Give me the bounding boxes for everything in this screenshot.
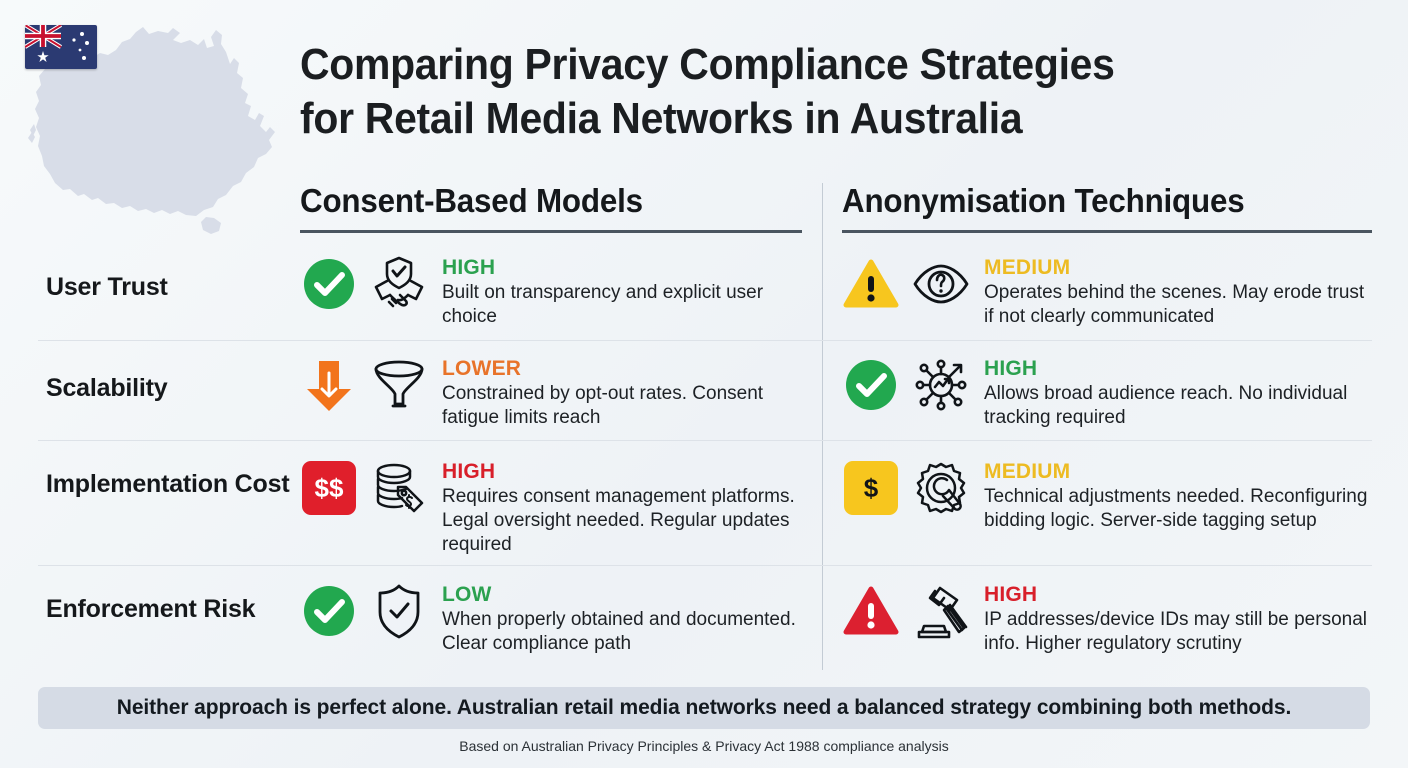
- rating-label: HIGH: [442, 256, 810, 279]
- row-label-scalability: Scalability: [46, 373, 294, 404]
- infographic-canvas: Comparing Privacy Compliance Strategies …: [0, 0, 1408, 768]
- eye-question-icon: [910, 255, 972, 313]
- green-check-circle-icon: [300, 255, 358, 313]
- summary-callout: Neither approach is perfect alone. Austr…: [38, 687, 1370, 729]
- page-title: Comparing Privacy Compliance Strategies …: [300, 38, 1230, 146]
- title-line-1: Comparing Privacy Compliance Strategies: [300, 38, 1230, 92]
- column-header-rule-right: [842, 230, 1372, 233]
- cell-enforcement-risk-consent: LOW When properly obtained and documente…: [300, 566, 810, 671]
- row-label-enforcement-risk: Enforcement Risk: [46, 594, 294, 625]
- gear-wrench-icon: [910, 459, 972, 517]
- shield-check-icon: [368, 582, 430, 640]
- cell-implementation-cost-anonymisation: $ MEDIUM Technical adjustments needed. R…: [842, 441, 1372, 566]
- row-label-implementation-cost: Implementation Cost: [46, 469, 294, 500]
- cell-text: LOW When properly obtained and documente…: [442, 582, 810, 656]
- row-label-user-trust: User Trust: [46, 272, 294, 303]
- cell-scalability-anonymisation: HIGH Allows broad audience reach. No ind…: [842, 341, 1372, 441]
- rating-description: Requires consent management platforms. L…: [442, 485, 810, 557]
- source-note: Based on Australian Privacy Principles &…: [0, 738, 1408, 754]
- rating-label: LOWER: [442, 357, 810, 380]
- green-check-circle-icon: [842, 356, 900, 414]
- yellow-single-dollar-chip-icon: $: [842, 459, 900, 517]
- rating-description: IP addresses/device IDs may still be per…: [984, 608, 1372, 656]
- table-row: Implementation Cost $$: [38, 440, 1372, 566]
- rating-description: When properly obtained and documented. C…: [442, 608, 810, 656]
- orange-down-arrow-icon: [300, 356, 358, 414]
- cell-text: HIGH IP addresses/device IDs may still b…: [984, 582, 1372, 656]
- column-header-rule-left: [300, 230, 802, 233]
- cell-user-trust-anonymisation: MEDIUM Operates behind the scenes. May e…: [842, 240, 1372, 340]
- rating-description: Allows broad audience reach. No individu…: [984, 382, 1372, 430]
- cell-enforcement-risk-anonymisation: HIGH IP addresses/device IDs may still b…: [842, 566, 1372, 671]
- cell-user-trust-consent: HIGH Built on transparency and explicit …: [300, 240, 810, 340]
- cell-text: HIGH Built on transparency and explicit …: [442, 255, 810, 329]
- rating-description: Built on transparency and explicit user …: [442, 281, 810, 329]
- red-double-dollar-chip-icon: $$: [300, 459, 358, 517]
- rating-label: LOW: [442, 583, 810, 606]
- rating-label: HIGH: [984, 357, 1372, 380]
- chip-label: $$: [302, 461, 356, 515]
- cell-text: MEDIUM Operates behind the scenes. May e…: [984, 255, 1372, 329]
- rating-label: MEDIUM: [984, 460, 1372, 483]
- red-warning-triangle-icon: [842, 582, 900, 640]
- rating-description: Constrained by opt-out rates. Consent fa…: [442, 382, 810, 430]
- cell-text: HIGH Allows broad audience reach. No ind…: [984, 356, 1372, 430]
- column-header-consent: Consent-Based Models: [300, 182, 643, 220]
- rating-label: MEDIUM: [984, 256, 1372, 279]
- chip-label: $: [844, 461, 898, 515]
- comparison-table: Consent-Based Models Anonymisation Techn…: [38, 178, 1372, 673]
- yellow-warning-triangle-icon: [842, 255, 900, 313]
- rating-label: HIGH: [442, 460, 810, 483]
- gavel-icon: [910, 582, 972, 640]
- table-row: Enforcement Risk LOW When properly obtai…: [38, 565, 1372, 671]
- cell-text: LOWER Constrained by opt-out rates. Cons…: [442, 356, 810, 430]
- table-row: Scalability LOWER Constrained by opt-out…: [38, 340, 1372, 441]
- rating-label: HIGH: [984, 583, 1372, 606]
- title-line-2: for Retail Media Networks in Australia: [300, 92, 1230, 146]
- column-header-anonymisation: Anonymisation Techniques: [842, 182, 1244, 220]
- network-hub-icon: [910, 356, 972, 414]
- rating-description: Technical adjustments needed. Reconfigur…: [984, 485, 1372, 533]
- green-check-circle-icon: [300, 582, 358, 640]
- funnel-icon: [368, 356, 430, 414]
- cell-text: HIGH Requires consent management platfor…: [442, 459, 810, 557]
- australian-flag: [25, 25, 97, 69]
- rating-description: Operates behind the scenes. May erode tr…: [984, 281, 1372, 329]
- cell-scalability-consent: LOWER Constrained by opt-out rates. Cons…: [300, 341, 810, 441]
- cell-implementation-cost-consent: $$ HIGH Requires c: [300, 441, 810, 566]
- coin-stack-price-tag-icon: [368, 459, 430, 517]
- table-row: User Trust: [38, 240, 1372, 340]
- cell-text: MEDIUM Technical adjustments needed. Rec…: [984, 459, 1372, 533]
- handshake-shield-icon: [368, 255, 430, 313]
- table-header-row: Consent-Based Models Anonymisation Techn…: [38, 178, 1372, 240]
